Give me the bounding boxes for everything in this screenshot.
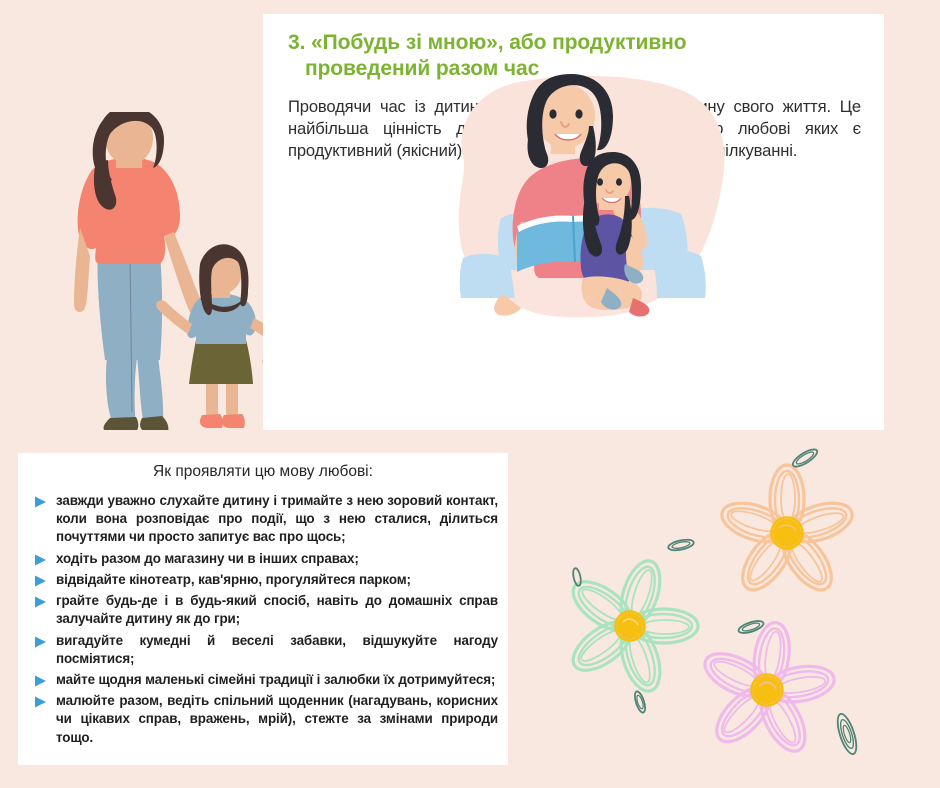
list-item: майте щодня маленькі сімейні традиції і … xyxy=(34,671,504,689)
page-root: 3. «Побудь зі мною», або продуктивно про… xyxy=(0,0,940,788)
list-item-text: малюйте разом, ведіть спільний щоденник … xyxy=(56,692,504,747)
tips-card: Як проявляти цю мову любові: завжди уваж… xyxy=(18,453,508,765)
list-item-text: ходіть разом до магазину чи в інших спра… xyxy=(56,550,504,568)
mother-figure xyxy=(74,112,203,430)
triangle-right-icon xyxy=(34,571,56,587)
top-content-card: 3. «Побудь зі мною», або продуктивно про… xyxy=(263,14,884,430)
list-item: завжди уважно слухайте дитину і тримайте… xyxy=(34,492,504,547)
list-item-text: майте щодня маленькі сімейні традиції і … xyxy=(56,671,504,689)
section-title-line1: 3. «Побудь зі мною», або продуктивно xyxy=(288,31,686,54)
list-item: малюйте разом, ведіть спільний щоденник … xyxy=(34,692,504,747)
triangle-right-icon xyxy=(34,692,56,708)
list-item: ходіть разом до магазину чи в інших спра… xyxy=(34,550,504,568)
list-item-text: відвідайте кінотеатр, кав'ярню, прогуляй… xyxy=(56,571,504,589)
list-item: відвідайте кінотеатр, кав'ярню, прогуляй… xyxy=(34,571,504,589)
mother-reading-book-illustration xyxy=(455,72,735,330)
list-item: грайте будь-де і в будь-який спосіб, нав… xyxy=(34,592,504,628)
list-item: вигадуйте кумедні й веселі забавки, відш… xyxy=(34,632,504,668)
triangle-right-icon xyxy=(34,632,56,648)
hand-drawn-flowers-decoration xyxy=(555,437,940,788)
triangle-right-icon xyxy=(34,550,56,566)
tips-heading: Як проявляти цю мову любові: xyxy=(18,463,508,481)
triangle-right-icon xyxy=(34,492,56,508)
triangle-right-icon xyxy=(34,671,56,687)
list-item-text: вигадуйте кумедні й веселі забавки, відш… xyxy=(56,632,504,668)
list-item-text: грайте будь-де і в будь-який спосіб, нав… xyxy=(56,592,504,628)
list-item-text: завжди уважно слухайте дитину і тримайте… xyxy=(56,492,504,547)
flower-peach-center xyxy=(772,518,803,549)
triangle-right-icon xyxy=(34,592,56,608)
flower-pink-center xyxy=(752,675,783,706)
flower-mint-center xyxy=(616,612,645,641)
tips-list: завжди уважно слухайте дитину і тримайте… xyxy=(34,492,504,750)
